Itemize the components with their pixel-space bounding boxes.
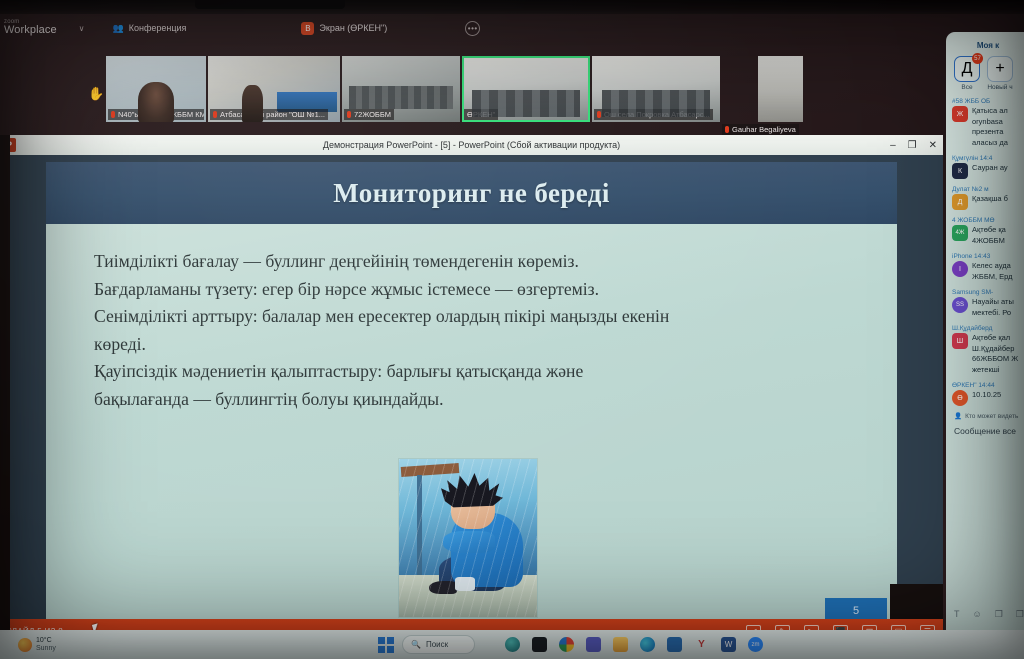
mic-muted-icon (213, 111, 217, 118)
video-tile[interactable]: N40"ынтымақ" ЖББМ КММ ... (106, 56, 206, 122)
chat-panel-title: Моя к (952, 41, 1024, 50)
slide-line: Сенімділікті арттыру: балалар мен ересек… (94, 303, 877, 331)
dark-app-icon[interactable] (532, 637, 547, 652)
slide-body-text: Тиімділікті бағалау — буллинг деңгейінің… (46, 224, 897, 413)
chevron-down-icon[interactable]: ∨ (79, 24, 85, 33)
message-sender: Samsung SM- (952, 289, 1022, 296)
window-controls: – ❐ ✕ (890, 135, 937, 155)
chat-message[interactable]: Samsung SM- SS Науайы аты мектебі. Ро (952, 289, 1024, 318)
chat-message[interactable]: Құмгүлін 14:4 К Сауран ау (952, 155, 1024, 179)
text-format-icon[interactable]: T (954, 609, 960, 620)
zoom-application: zoom Workplace ∨ 👥 Конференция В Экран (… (0, 14, 1024, 630)
rain-overlay (399, 459, 537, 617)
chat-panel: Моя к Д 57 + Все Новый ч #58 ЖББ ОБ Ж Қа… (946, 32, 1024, 630)
video-tile[interactable]: Атбасарский район "ОШ №1... (208, 56, 340, 122)
minimize-button[interactable]: – (890, 140, 896, 151)
message-text: Ақтөбе қа 4ЖОББМ (972, 225, 1022, 246)
screen: zoom Workplace ∨ 👥 Конференция В Экран (… (0, 0, 1024, 659)
people-icon: 👥 (113, 23, 124, 34)
video-filmstrip: ✋ N40"ынтымақ" ЖББМ КММ ... Атбасарский … (0, 42, 940, 122)
taskbar-search[interactable]: 🔍 Поиск (402, 635, 475, 654)
avatar: К (952, 163, 968, 179)
screenshot-icon[interactable]: ❐ (1016, 609, 1024, 620)
attach-file-icon[interactable]: ❐ (995, 609, 1003, 620)
visibility-note[interactable]: 👤 Кто может видеть (954, 412, 1024, 420)
avatar: Ж (952, 106, 968, 122)
slide-line: Қауіпсіздік мәдениетін қалыптастыру: бар… (94, 358, 877, 386)
zoom-logo: zoom Workplace (4, 19, 57, 37)
slide-title: Мониторинг не береді (333, 178, 610, 209)
message-text: Қатыса ал orynbasa презента аласыз да (972, 106, 1022, 148)
participant-name: Ош села Покровка Атбасарс... (604, 110, 710, 119)
search-placeholder: Поиск (426, 640, 448, 649)
video-tile-name-row: ӨРКЕН" (464, 109, 498, 120)
participant-name: ӨРКЕН" (467, 110, 495, 119)
screen-share-indicator[interactable]: В Экран (ӨРКЕН") (301, 22, 387, 35)
weather-description: Sunny (36, 645, 56, 652)
chat-message[interactable]: 4 ЖОББМ МӨ 4Ж Ақтөбе қа 4ЖОББМ (952, 217, 1024, 246)
word-icon[interactable]: W (721, 637, 736, 652)
more-options-icon[interactable]: ••• (465, 21, 480, 36)
close-button[interactable]: ✕ (929, 140, 937, 151)
mic-muted-icon (725, 126, 729, 133)
message-text: 10.10.25 (972, 390, 1001, 406)
mic-muted-icon (347, 111, 351, 118)
video-tile[interactable] (758, 56, 803, 122)
powerpoint-window: P Демонстрация PowerPoint - [5] - PowerP… (0, 135, 943, 631)
weather-widget[interactable]: 10°C Sunny (18, 637, 56, 652)
avatar: I (952, 261, 968, 277)
search-icon: 🔍 (411, 640, 421, 649)
slide-line: бақылағанда — буллингтің болуы қиындайды… (94, 386, 877, 414)
avatar: Ш (952, 333, 968, 349)
video-tile-name-row: Ош села Покровка Атбасарс... (594, 109, 713, 120)
participant-name: Атбасарский район "ОШ №1... (220, 110, 325, 119)
chat-message[interactable]: #58 ЖББ ОБ Ж Қатыса ал orynbasa презента… (952, 98, 1024, 148)
visibility-note-label: Кто может видеть (965, 413, 1018, 420)
powerpoint-window-title: Демонстрация PowerPoint - [5] - PowerPoi… (323, 140, 620, 150)
chat-message[interactable]: iPhone 14:43 I Келес ауда ЖББМ, Ерд (952, 253, 1024, 282)
windows-start-icon[interactable] (378, 637, 394, 653)
mic-muted-icon (597, 111, 601, 118)
message-sender: Ш.Құдайберд (952, 325, 1022, 332)
chat-compose-input[interactable]: Сообщение все (954, 426, 1024, 436)
all-chats-button[interactable]: Д 57 (954, 56, 980, 82)
message-sender: #58 ЖББ ОБ (952, 98, 1022, 105)
chat-message[interactable]: Дулат №2 м Д Қазақша б (952, 186, 1024, 210)
conference-label: Конференция (129, 23, 187, 33)
teams-icon[interactable] (586, 637, 601, 652)
avatar: Ө (952, 390, 968, 406)
taskbar-center: 🔍 Поиск (378, 635, 475, 654)
slide-stage: Мониторинг не береді Тиімділікті бағалау… (0, 155, 943, 631)
participant-name: 72ЖОББМ (354, 110, 391, 119)
slide-line: көреді. (94, 331, 877, 359)
slide-illustration (398, 458, 538, 618)
message-text: Келес ауда ЖББМ, Ерд (972, 261, 1022, 282)
zoom-toolbar: zoom Workplace ∨ 👥 Конференция В Экран (… (0, 14, 1024, 42)
video-tile-name-row: N40"ынтымақ" ЖББМ КММ ... (108, 109, 204, 120)
slide-line: Бағдарламаны түзету: егер бір нәрсе жұмы… (94, 276, 877, 304)
chat-message[interactable]: Ш.Құдайберд Ш Ақтөбе қал Ш.Құдайбер 66ЖБ… (952, 325, 1024, 375)
new-chat-label: Новый ч (987, 84, 1013, 91)
avatar: SS (952, 297, 968, 313)
monitor-notch (195, 0, 345, 9)
plus-icon: + (995, 60, 1004, 78)
slide-title-banner: Мониторинг не береді (46, 162, 897, 224)
windows-taskbar: 10°C Sunny 🔍 Поиск Y W zm (0, 630, 1024, 659)
compose-toolbar: T ☺ ❐ ❐ (954, 609, 1024, 620)
participant-name: N40"ынтымақ" ЖББМ КММ ... (118, 110, 204, 119)
powerpoint-titlebar[interactable]: P Демонстрация PowerPoint - [5] - PowerP… (0, 135, 943, 155)
message-sender: 4 ЖОББМ МӨ (952, 217, 1022, 224)
video-tile-name-row: Атбасарский район "ОШ №1... (210, 109, 328, 120)
taskbar-app-icons: Y W zm (505, 637, 763, 652)
share-badge-icon: В (301, 22, 314, 35)
background-gap (890, 584, 943, 620)
message-text: Қазақша б (972, 194, 1008, 210)
message-sender: iPhone 14:43 (952, 253, 1022, 260)
video-tile[interactable]: 72ЖОББМ (342, 56, 460, 122)
mic-muted-icon (111, 111, 115, 118)
message-sender: Құмгүлін 14:4 (952, 155, 1022, 162)
people-visibility-icon: 👤 (954, 412, 962, 420)
chat-action-labels: Все Новый ч (954, 82, 1024, 91)
message-sender: Дулат №2 м (952, 186, 1022, 193)
group-icon: Д (962, 60, 973, 78)
zoom-icon[interactable]: zm (748, 637, 763, 652)
all-chats-label: Все (954, 84, 980, 91)
monitor-bezel (0, 0, 1024, 14)
message-sender: ӨРКЕН" 14:44 (952, 382, 1022, 389)
zoom-logo-title: Workplace (4, 25, 57, 37)
slide-line: Тиімділікті бағалау — буллинг деңгейінің… (94, 248, 877, 276)
teal-app-icon[interactable] (505, 637, 520, 652)
file-explorer-icon[interactable] (613, 637, 628, 652)
office-icon[interactable] (559, 637, 574, 652)
raise-hand-icon: ✋ (88, 86, 104, 102)
store-icon[interactable] (667, 637, 682, 652)
video-tile-active[interactable]: ӨРКЕН" (462, 56, 590, 122)
video-tile[interactable]: Ош села Покровка Атбасарс... (592, 56, 720, 122)
emoji-icon[interactable]: ☺ (973, 609, 982, 620)
share-label: Экран (ӨРКЕН") (319, 23, 387, 33)
video-tile-name-row: Gauhar Begaliyeva (722, 124, 799, 135)
edge-icon[interactable] (640, 637, 655, 652)
message-text: Науайы аты мектебі. Ро (972, 297, 1022, 318)
chat-action-buttons: Д 57 + (954, 56, 1024, 82)
avatar: 4Ж (952, 225, 968, 241)
conference-menu-item[interactable]: 👥 Конференция (113, 23, 187, 34)
restore-button[interactable]: ❐ (908, 140, 917, 151)
avatar: Д (952, 194, 968, 210)
message-text: Ақтөбе қал Ш.Құдайбер 66ЖББОМ Ж жетекші (972, 333, 1022, 375)
left-dark-edge (0, 135, 10, 631)
participant-name: Gauhar Begaliyeva (732, 125, 796, 134)
message-text: Сауран ау (972, 163, 1008, 179)
sun-icon (18, 638, 32, 652)
unread-badge: 57 (972, 53, 983, 64)
yandex-icon[interactable]: Y (694, 637, 709, 652)
slide[interactable]: Мониторинг не береді Тиімділікті бағалау… (46, 162, 897, 624)
chat-message[interactable]: ӨРКЕН" 14:44 Ө 10.10.25 (952, 382, 1024, 406)
weather-temperature: 10°C (36, 637, 56, 644)
video-tile-name-row: 72ЖОББМ (344, 109, 394, 120)
new-chat-button[interactable]: + (987, 56, 1013, 82)
